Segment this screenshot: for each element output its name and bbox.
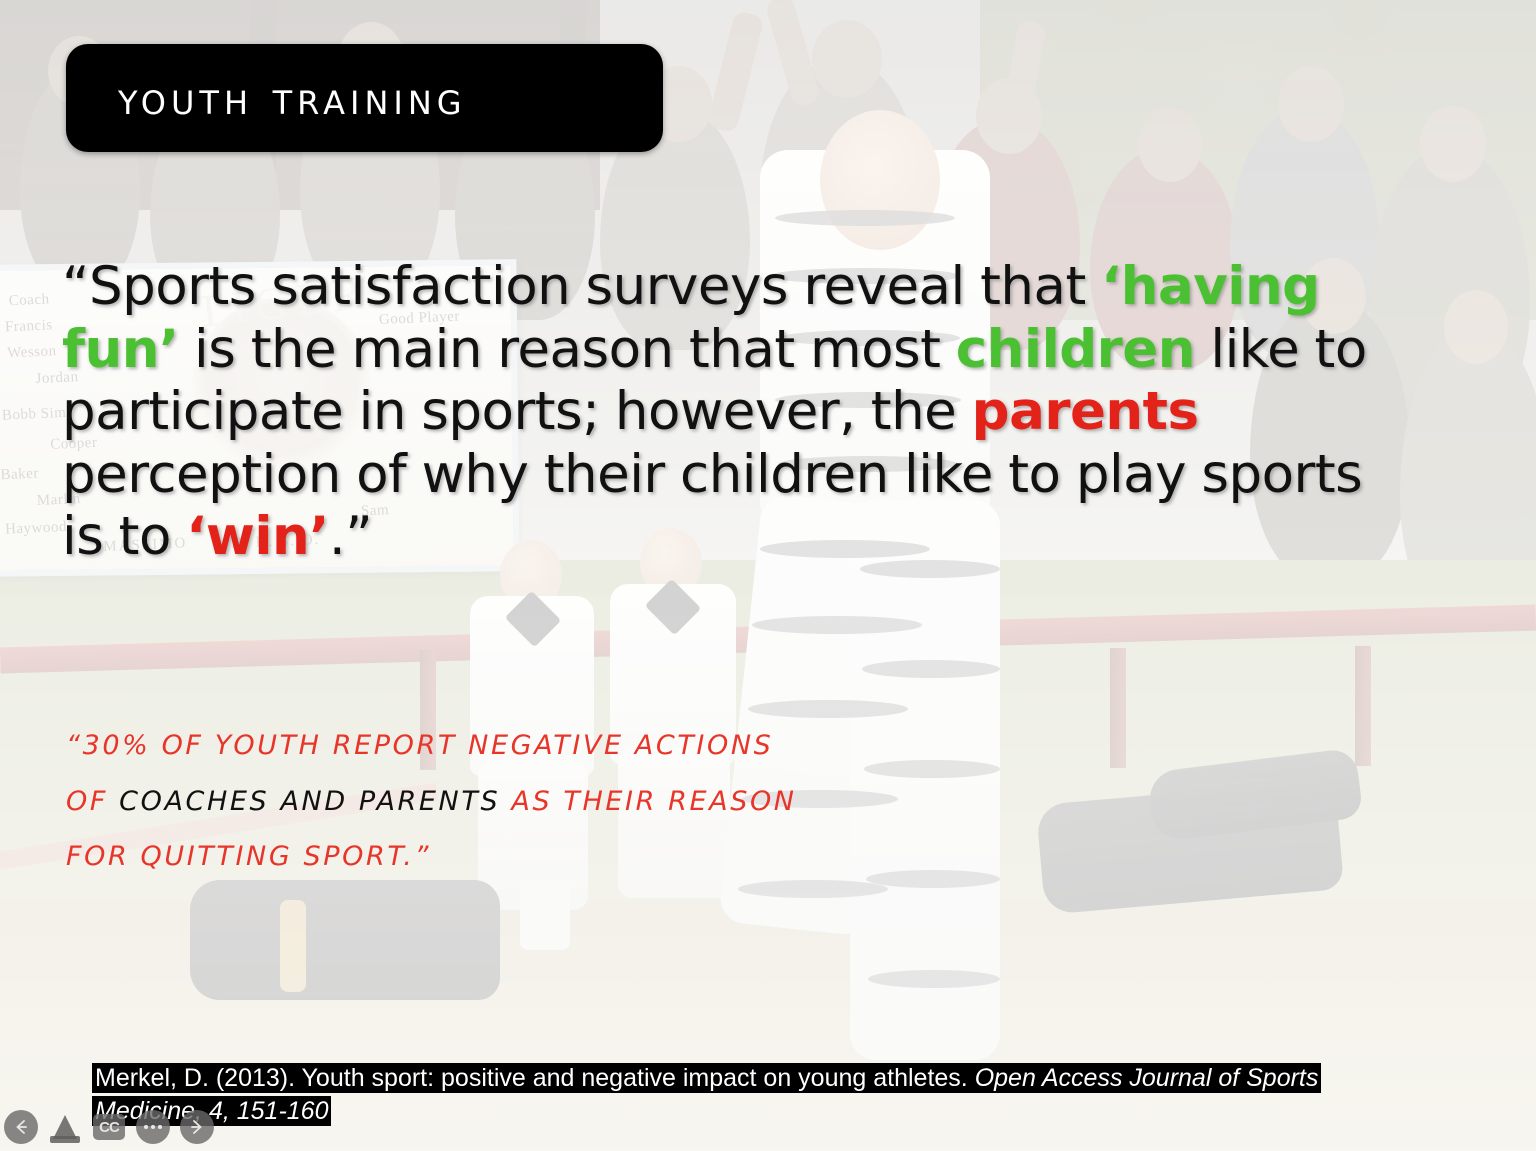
equipment-bag [190,880,500,1000]
uniform-stripe [864,760,1000,778]
presentation-slide: Coach Francis Wesson Jordan Bobb Sim Coo… [0,0,1536,1151]
umpire-head [820,110,940,250]
media-player-controls[interactable]: CC [4,1110,214,1144]
traffic-cone-icon[interactable] [53,1115,77,1139]
page-title: Youth Training [66,75,467,121]
more-options-button[interactable] [136,1110,170,1144]
citation-journal-name: Open Access Journal of Sports [975,1064,1319,1092]
citation-reference: Merkel, D. (2013). Youth sport: positive… [92,1062,1382,1128]
bag-stripe [280,900,306,992]
quote-segment: “Sports satisfaction surveys reveal that [62,256,1101,317]
cc-icon[interactable]: CC [93,1114,125,1140]
main-quote: “Sports satisfaction surveys reveal that… [62,256,1392,569]
uniform-stripe [868,970,1000,988]
citation-line-1: Merkel, D. (2013). Youth sport: positive… [92,1063,1321,1093]
citation-plain-text: Merkel, D. (2013). Youth sport: positive… [95,1064,975,1092]
arrow-right-icon[interactable] [180,1110,214,1144]
statistic-quote: “30% of youth report negative actions of… [66,718,826,885]
quote-highlight-children: children [956,319,1195,380]
slide-title-box: Youth Training [66,44,663,152]
quote-highlight-parents: parents [972,381,1199,442]
subquote-highlight-coaches-and-parents: coaches and parents [119,786,500,817]
uniform-stripe [862,660,1000,678]
background-photograph: Coach Francis Wesson Jordan Bobb Sim Coo… [0,0,1536,1151]
previous-slide-button[interactable] [4,1110,38,1144]
uniform-stripe [748,700,908,718]
uniform-stripe [752,616,922,634]
bench-leg [1355,646,1371,766]
ellipsis-icon[interactable] [136,1110,170,1144]
quote-highlight-win: ‘win’ [186,506,329,567]
quote-segment: is the main reason that most [179,319,956,380]
seated-player-sock [520,880,570,950]
quote-segment: .” [329,506,372,567]
ellipsis-dots [144,1125,162,1129]
vlc-logo-button[interactable] [48,1110,82,1144]
next-slide-button[interactable] [180,1110,214,1144]
arrow-left-icon[interactable] [4,1110,38,1144]
bench-leg [1110,648,1126,768]
uniform-stripe [866,870,1000,888]
closed-captions-button[interactable]: CC [92,1110,126,1144]
uniform-stripe [775,210,955,226]
